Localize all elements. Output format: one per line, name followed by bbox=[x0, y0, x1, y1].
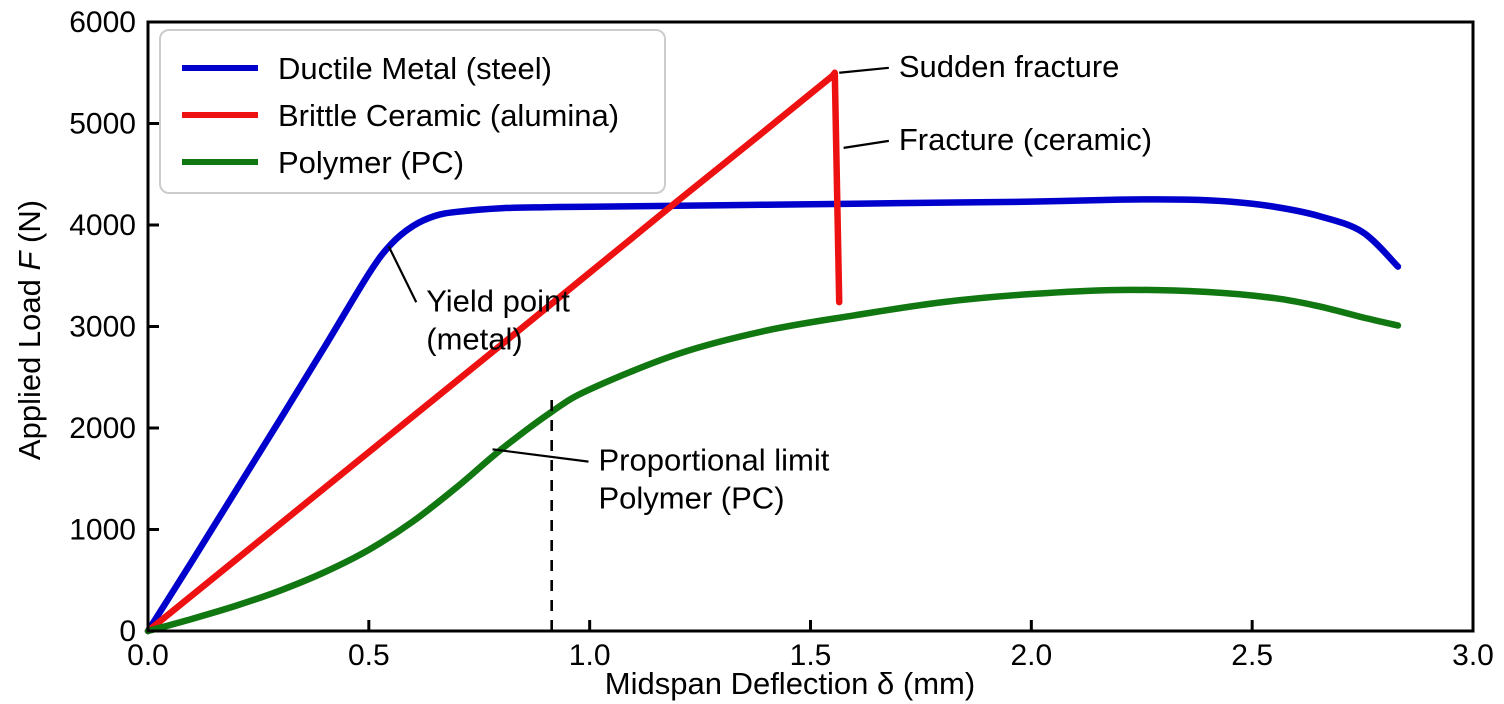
annotation-sudden-fracture: Sudden fracture bbox=[899, 49, 1120, 84]
y-tick-label: 4000 bbox=[69, 209, 136, 242]
load-deflection-chart: 0.00.51.01.52.02.53.00100020003000400050… bbox=[0, 0, 1504, 704]
x-axis-title: Midspan Deflection δ (mm) bbox=[605, 666, 975, 701]
y-tick-label: 5000 bbox=[69, 108, 136, 141]
y-tick-label: 1000 bbox=[69, 514, 136, 547]
annotation-yield-point-metal: Yield point(metal) bbox=[426, 283, 570, 356]
chart-figure: 0.00.51.01.52.02.53.00100020003000400050… bbox=[0, 0, 1504, 704]
y-tick-label: 6000 bbox=[69, 6, 136, 39]
annotation-leader-proportional-limit-polymer bbox=[493, 449, 589, 461]
annotation-proportional-limit-polymer: Proportional limitPolymer (PC) bbox=[599, 443, 830, 516]
annotation-leader-fracture-ceramic bbox=[844, 141, 889, 148]
y-axis-title: Applied Load F (N) bbox=[12, 200, 47, 460]
x-tick-label: 0.5 bbox=[348, 639, 390, 672]
annotation-leader-yield-point-metal bbox=[389, 246, 417, 302]
legend-label-0: Ductile Metal (steel) bbox=[278, 51, 552, 86]
y-tick-label: 0 bbox=[119, 615, 136, 648]
annotation-fracture-ceramic: Fracture (ceramic) bbox=[899, 122, 1152, 157]
x-tick-label: 3.0 bbox=[1452, 639, 1494, 672]
annotation-leader-sudden-fracture bbox=[839, 68, 889, 73]
legend-label-2: Polymer (PC) bbox=[278, 145, 464, 180]
y-tick-label: 3000 bbox=[69, 311, 136, 344]
chart-legend: Ductile Metal (steel)Brittle Ceramic (al… bbox=[160, 30, 665, 193]
y-tick-label: 2000 bbox=[69, 412, 136, 445]
x-tick-label: 2.5 bbox=[1231, 639, 1273, 672]
legend-label-1: Brittle Ceramic (alumina) bbox=[278, 98, 619, 133]
x-tick-label: 2.0 bbox=[1010, 639, 1052, 672]
